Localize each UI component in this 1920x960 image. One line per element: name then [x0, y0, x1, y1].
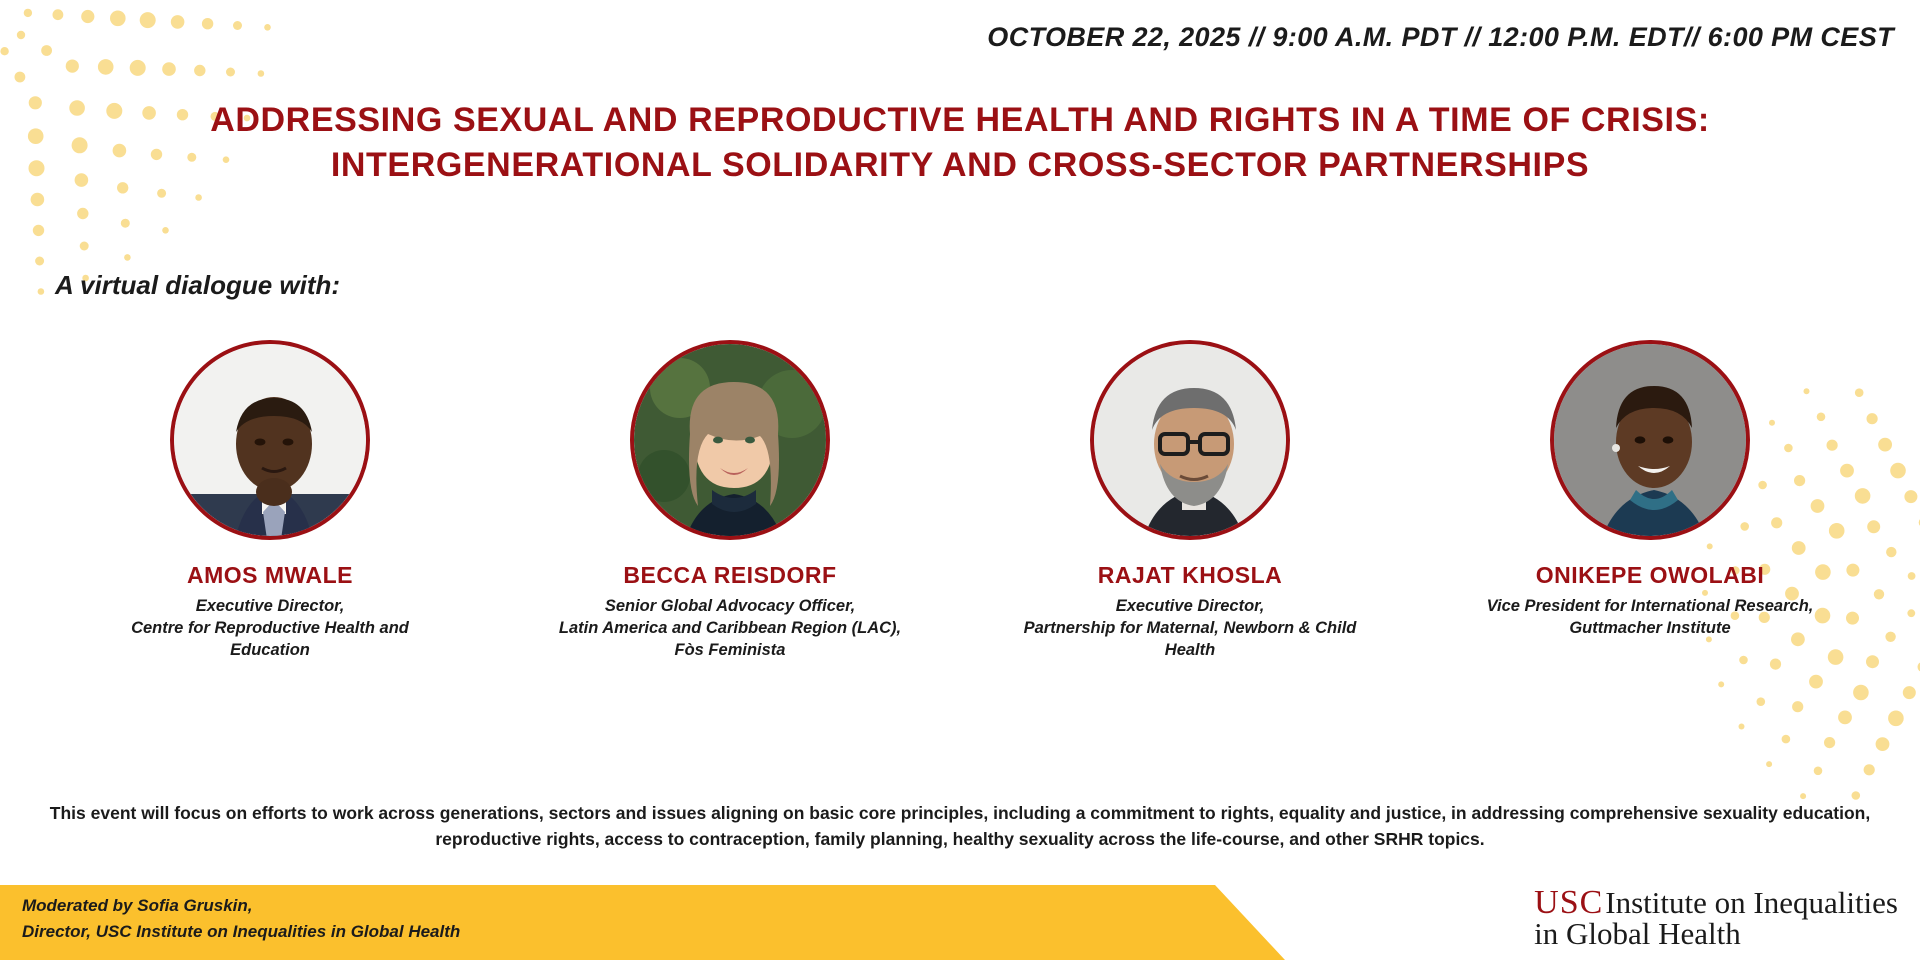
speaker-name: ONIKEPE OWOLABI — [1536, 562, 1765, 589]
speaker-card: RAJAT KHOSLA Executive Director, Partner… — [980, 340, 1400, 661]
moderator-info: Moderated by Sofia Gruskin, Director, US… — [22, 893, 460, 944]
portrait-rajat-khosla — [1094, 344, 1286, 536]
speaker-name: RAJAT KHOSLA — [1098, 562, 1282, 589]
portrait-amos-mwale — [174, 344, 366, 536]
speaker-card: ONIKEPE OWOLABI Vice President for Inter… — [1440, 340, 1860, 640]
virtual-dialogue-label: A virtual dialogue with: — [55, 270, 340, 301]
title-line-1: ADDRESSING SEXUAL AND REPRODUCTIVE HEALT… — [0, 98, 1920, 143]
usc-institute-line2: in Global Health — [1534, 916, 1741, 952]
usc-logo: USC Institute on Inequalities in Global … — [1534, 884, 1898, 952]
speakers-row: AMOS MWALE Executive Director, Centre fo… — [60, 340, 1860, 661]
page-title: ADDRESSING SEXUAL AND REPRODUCTIVE HEALT… — [0, 98, 1920, 188]
avatar — [1550, 340, 1750, 540]
event-datetime: OCTOBER 22, 2025 // 9:00 A.M. PDT // 12:… — [987, 22, 1894, 53]
title-line-2: INTERGENERATIONAL SOLIDARITY AND CROSS-S… — [0, 143, 1920, 188]
speaker-card: BECCA REISDORF Senior Global Advocacy Of… — [520, 340, 940, 661]
speaker-card: AMOS MWALE Executive Director, Centre fo… — [60, 340, 480, 661]
speaker-name: AMOS MWALE — [187, 562, 353, 589]
speaker-role: Vice President for International Researc… — [1470, 596, 1830, 640]
speaker-role: Executive Director, Centre for Reproduct… — [90, 596, 450, 661]
portrait-onikepe-owolabi — [1554, 344, 1746, 536]
portrait-becca-reisdorf — [634, 344, 826, 536]
speaker-name: BECCA REISDORF — [623, 562, 836, 589]
speaker-role: Executive Director, Partnership for Mate… — [1010, 596, 1370, 661]
moderator-name: Moderated by Sofia Gruskin, — [22, 893, 460, 919]
moderator-title: Director, USC Institute on Inequalities … — [22, 919, 460, 945]
event-description: This event will focus on efforts to work… — [30, 800, 1890, 853]
avatar — [170, 340, 370, 540]
speaker-role: Senior Global Advocacy Officer, Latin Am… — [550, 596, 910, 661]
avatar — [1090, 340, 1290, 540]
avatar — [630, 340, 830, 540]
